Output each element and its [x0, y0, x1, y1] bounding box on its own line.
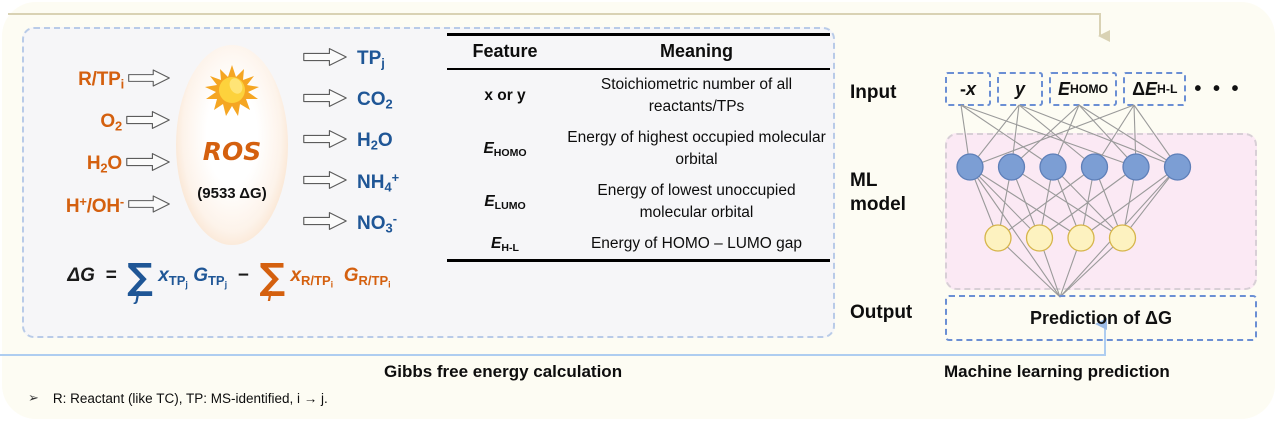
reactant-h-oh: H+/OH-: [24, 185, 174, 227]
nn-node: [1040, 154, 1066, 180]
reactant-h-oh-label: H+/OH-: [66, 194, 124, 218]
table-cell-feature: EH-L: [447, 229, 563, 261]
reactant-h2o-label: H2O: [87, 153, 122, 176]
block-arrow-icon: [127, 67, 171, 94]
reactants-column: R/TPiO2H2OH+/OH-: [24, 59, 174, 227]
block-arrow-icon: [302, 128, 348, 155]
neural-network-diagram: [940, 101, 1260, 306]
ml-section: Input MLmodel Output -xyEHOMOΔEH-L• • • …: [845, 27, 1265, 347]
table-cell-meaning: Energy of highest occupied molecular orb…: [563, 123, 830, 176]
table-cell-feature: EHOMO: [447, 123, 563, 176]
products-column: TPjCO2H2ONH4+NO3-: [299, 39, 429, 244]
table-row: EHOMOEnergy of highest occupied molecula…: [447, 123, 830, 176]
table-header-meaning: Meaning: [563, 35, 830, 70]
reaction-scheme: ROS (9533 ΔG) R/TPiO2H2OH+/OH- TPjCO2H2O…: [24, 29, 424, 336]
block-arrow-icon: [127, 193, 171, 220]
block-arrow-icon: [125, 151, 171, 178]
feature-table-wrap: Feature Meaning x or yStoichiometric num…: [447, 33, 830, 333]
footnote: ➢ R: Reactant (like TC), TP: MS-identifi…: [28, 390, 328, 406]
reactant-o2-label: O2: [100, 111, 122, 134]
output-prediction-box: Prediction of ΔG: [945, 295, 1257, 341]
block-arrow-icon: [125, 109, 171, 136]
ml-model-label: MLmodel: [850, 169, 906, 217]
nn-node: [957, 154, 983, 180]
product-nh4: NH4+: [299, 162, 429, 203]
table-cell-feature: ELUMO: [447, 176, 563, 229]
block-arrow-icon: [302, 210, 348, 237]
figure-root: ROS (9533 ΔG) R/TPiO2H2OH+/OH- TPjCO2H2O…: [0, 0, 1277, 421]
reactant-r-tp-label: R/TPi: [78, 69, 124, 92]
table-header-feature: Feature: [447, 35, 563, 70]
product-no3: NO3-: [299, 203, 429, 244]
product-no3-label: NO3-: [357, 211, 397, 235]
sun-icon: [201, 61, 263, 124]
block-arrow-icon: [302, 169, 348, 196]
ros-count-label: (9533 ΔG): [176, 185, 288, 202]
gibbs-equation: ΔG = ∑j xTPj GTPj − ∑i xR/TPi GR/TPi: [34, 257, 424, 298]
feature-table: Feature Meaning x or yStoichiometric num…: [447, 33, 830, 262]
block-arrow-icon: [302, 87, 348, 114]
table-row: EH-LEnergy of HOMO – LUMO gap: [447, 229, 830, 261]
reactant-r-tp: R/TPi: [24, 59, 174, 101]
caption-ml: Machine learning prediction: [944, 362, 1170, 382]
footnote-text: R: Reactant (like TC), TP: MS-identified…: [53, 391, 328, 406]
product-nh4-label: NH4+: [357, 170, 399, 194]
caption-gibbs: Gibbs free energy calculation: [384, 362, 622, 382]
product-h2o-label: H2O: [357, 130, 393, 153]
ros-label: ROS: [176, 137, 288, 166]
table-cell-meaning: Stoichiometric number of all reactants/T…: [563, 69, 830, 123]
nn-node: [1068, 225, 1094, 251]
table-cell-meaning: Energy of lowest unoccupied molecular or…: [563, 176, 830, 229]
product-tp-label: TPj: [357, 48, 385, 71]
nn-node: [1123, 154, 1149, 180]
table-cell-meaning: Energy of HOMO – LUMO gap: [563, 229, 830, 261]
table-row: ELUMOEnergy of lowest unoccupied molecul…: [447, 176, 830, 229]
nn-node: [985, 225, 1011, 251]
product-co2: CO2: [299, 80, 429, 121]
table-row: x or yStoichiometric number of all react…: [447, 69, 830, 123]
block-arrow-icon: [302, 46, 348, 73]
nn-node: [999, 154, 1025, 180]
input-ellipsis: • • •: [1194, 78, 1241, 101]
product-tp: TPj: [299, 39, 429, 80]
footnote-bullet-icon: ➢: [28, 390, 39, 406]
output-row-label: Output: [850, 302, 912, 324]
nn-node: [1165, 154, 1191, 180]
ros-ellipse: ROS (9533 ΔG): [176, 45, 288, 245]
nn-node: [1110, 225, 1136, 251]
input-row-label: Input: [850, 82, 896, 104]
table-header-row: Feature Meaning: [447, 35, 830, 70]
product-co2-label: CO2: [357, 89, 393, 112]
reactant-h2o: H2O: [24, 143, 174, 185]
product-h2o: H2O: [299, 121, 429, 162]
nn-node: [1027, 225, 1053, 251]
table-cell-feature: x or y: [447, 69, 563, 123]
reactant-o2: O2: [24, 101, 174, 143]
nn-node: [1082, 154, 1108, 180]
